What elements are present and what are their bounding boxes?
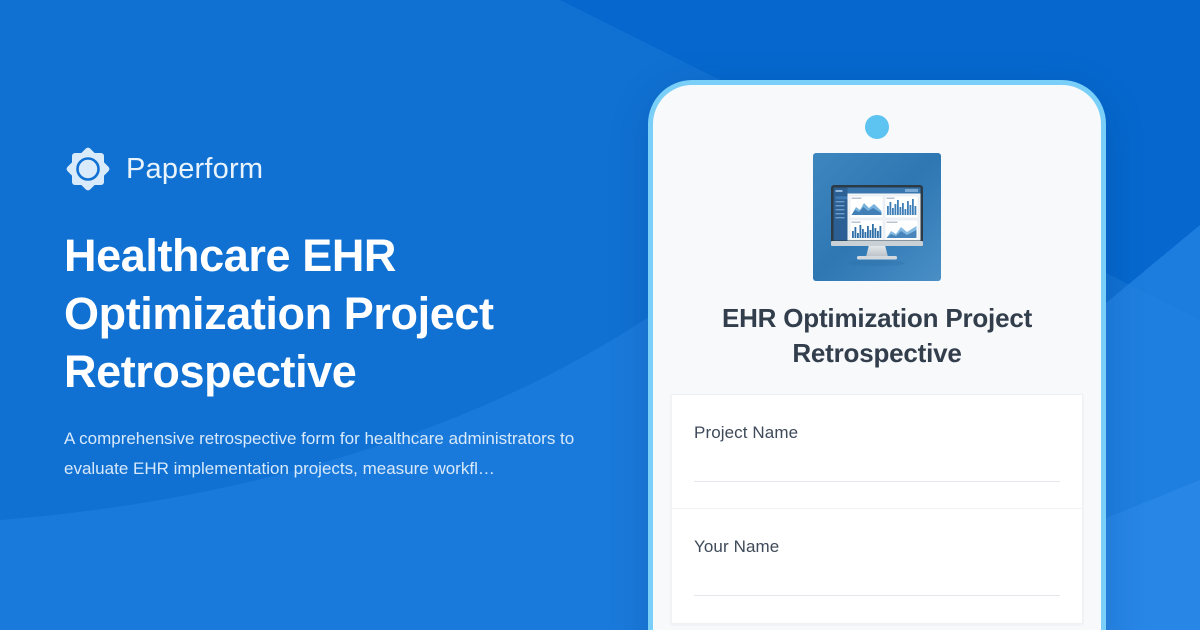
brand-lockup: Paperform <box>64 145 624 193</box>
paperform-logo-icon <box>64 145 112 193</box>
camera-dot-icon <box>865 115 889 139</box>
brand-name: Paperform <box>126 155 263 184</box>
field-label: Project Name <box>694 423 1060 443</box>
project-name-input[interactable] <box>694 481 1060 482</box>
page-subtitle: A comprehensive retrospective form for h… <box>64 424 579 485</box>
hero-panel: Paperform Healthcare EHR Optimization Pr… <box>64 0 624 630</box>
field-label: Your Name <box>694 537 1060 557</box>
form-title: EHR Optimization Project Retrospective <box>693 301 1061 370</box>
phone-mockup: EHR Optimization Project Retrospective P… <box>648 80 1106 630</box>
form-field-your-name[interactable]: Your Name <box>672 509 1082 623</box>
your-name-input[interactable] <box>694 595 1060 596</box>
form-card: Project Name Your Name <box>671 394 1083 624</box>
form-field-project-name[interactable]: Project Name <box>672 395 1082 509</box>
page-title: Healthcare EHR Optimization Project Retr… <box>64 227 584 400</box>
form-hero-image <box>813 153 941 281</box>
